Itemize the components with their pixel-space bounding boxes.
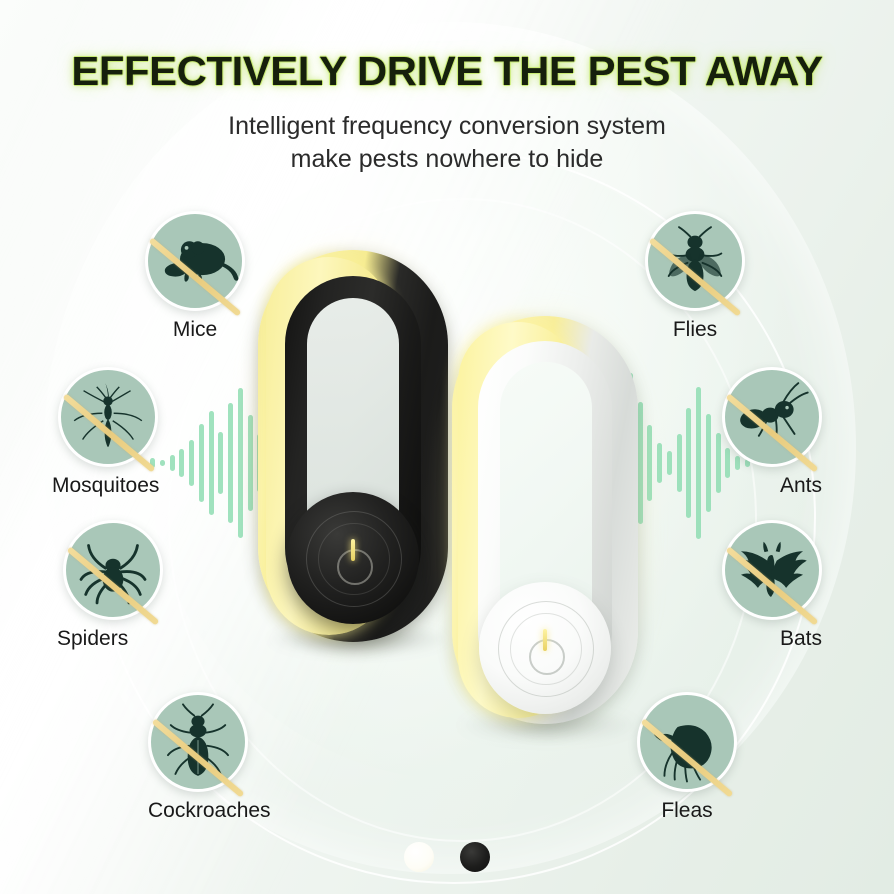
- pest-label: Mosquitoes: [52, 474, 159, 498]
- mosquito-icon: [58, 367, 158, 467]
- flea-icon: [637, 692, 737, 792]
- color-swatch-group: [0, 842, 894, 872]
- color-swatch-white[interactable]: [404, 842, 434, 872]
- pest-label: Cockroaches: [148, 799, 248, 823]
- pest-badge-spiders[interactable]: Spiders: [63, 520, 163, 651]
- black-repeller-device[interactable]: [258, 250, 448, 660]
- pest-label: Ants: [722, 474, 822, 498]
- power-icon-stem: [351, 539, 355, 561]
- pest-label: Bats: [722, 627, 822, 651]
- pest-badge-fleas[interactable]: Fleas: [637, 692, 737, 823]
- mouse-icon: [145, 211, 245, 311]
- pest-badge-bats[interactable]: Bats: [722, 520, 822, 651]
- pest-badge-ants[interactable]: Ants: [722, 367, 822, 498]
- spider-icon: [63, 520, 163, 620]
- power-button[interactable]: [479, 582, 611, 714]
- pest-badge-cockroaches[interactable]: Cockroaches: [148, 692, 248, 823]
- color-swatch-black[interactable]: [460, 842, 490, 872]
- power-icon-stem: [543, 629, 547, 651]
- pest-label: Fleas: [637, 799, 737, 823]
- subtitle-line-1: Intelligent frequency conversion system: [0, 110, 894, 143]
- pest-label: Mice: [145, 318, 245, 342]
- pest-label: Flies: [645, 318, 745, 342]
- power-icon: [529, 639, 565, 675]
- pest-badge-flies[interactable]: Flies: [645, 211, 745, 342]
- white-repeller-device[interactable]: [452, 316, 638, 748]
- page-title: EFFECTIVELY DRIVE THE PEST AWAY: [0, 48, 894, 95]
- bat-icon: [722, 520, 822, 620]
- pest-label: Spiders: [57, 627, 163, 651]
- pest-badge-mosquitoes[interactable]: Mosquitoes: [58, 367, 159, 498]
- subtitle: Intelligent frequency conversion system …: [0, 110, 894, 176]
- pest-badge-mice[interactable]: Mice: [145, 211, 245, 342]
- product-infographic: EFFECTIVELY DRIVE THE PEST AWAY Intellig…: [0, 0, 894, 894]
- subtitle-line-2: make pests nowhere to hide: [0, 143, 894, 176]
- cockroach-icon: [148, 692, 248, 792]
- power-icon: [337, 549, 373, 585]
- fly-icon: [645, 211, 745, 311]
- ant-icon: [722, 367, 822, 467]
- power-button[interactable]: [287, 492, 419, 624]
